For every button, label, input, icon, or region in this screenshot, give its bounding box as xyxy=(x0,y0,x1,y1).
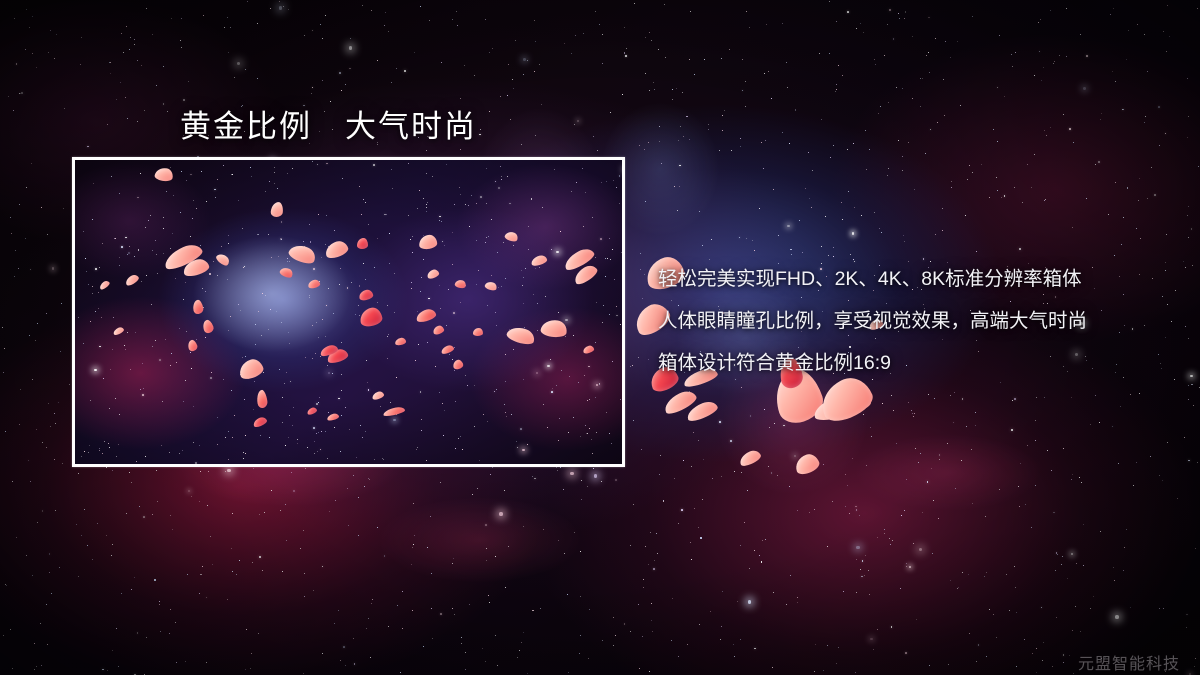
petal xyxy=(307,279,320,289)
petal xyxy=(287,242,318,267)
starfield-screen xyxy=(75,160,622,464)
petal xyxy=(454,279,467,289)
petal xyxy=(394,337,406,346)
petal xyxy=(504,230,519,243)
petal xyxy=(161,241,204,273)
petal xyxy=(793,451,822,476)
petal xyxy=(738,448,763,468)
petal xyxy=(540,318,568,338)
body-copy: 轻松完美实现FHD、2K、4K、8K标准分辨率箱体 人体眼睛瞳孔比例，享受视觉效… xyxy=(658,258,1158,384)
petal xyxy=(256,389,268,408)
petal xyxy=(426,268,440,280)
petal xyxy=(182,257,211,278)
petal xyxy=(112,326,125,336)
petal xyxy=(484,280,498,291)
petal xyxy=(154,167,174,183)
petal xyxy=(811,388,873,423)
petal xyxy=(415,307,437,323)
led-display-panel[interactable] xyxy=(72,157,625,467)
petal xyxy=(98,279,110,290)
petal xyxy=(237,357,265,382)
watermark: 元盟智能科技 xyxy=(1078,650,1180,674)
slide-canvas: 黄金比例 大气时尚 轻松完美实现FHD、2K、4K、8K标准分辨率箱体 人体眼睛… xyxy=(0,0,1200,675)
petal xyxy=(124,273,140,287)
petal xyxy=(201,319,215,335)
petal xyxy=(685,399,720,424)
petal xyxy=(359,306,384,328)
petal xyxy=(319,343,339,357)
petal xyxy=(452,359,464,370)
petal xyxy=(418,234,437,250)
body-line-2: 人体眼睛瞳孔比例，享受视觉效果，高端大气时尚 xyxy=(658,300,1158,342)
petal xyxy=(326,347,349,364)
petal xyxy=(582,345,595,355)
petal xyxy=(505,324,536,347)
petal xyxy=(357,238,368,249)
petal xyxy=(530,254,548,267)
body-line-3: 箱体设计符合黄金比例16:9 xyxy=(658,342,1158,384)
page-title: 黄金比例 大气时尚 xyxy=(180,101,477,146)
body-line-1: 轻松完美实现FHD、2K、4K、8K标准分辨率箱体 xyxy=(658,258,1158,300)
petal xyxy=(432,324,445,335)
petal xyxy=(215,252,232,268)
petal xyxy=(473,328,483,336)
petal xyxy=(571,262,599,286)
petal xyxy=(371,390,385,400)
petal xyxy=(323,239,350,260)
petal xyxy=(326,413,339,422)
petal xyxy=(192,299,204,315)
display-screen-content xyxy=(75,160,622,464)
petal xyxy=(440,344,455,355)
petal xyxy=(279,266,295,280)
petal xyxy=(358,289,374,302)
petal xyxy=(187,339,199,352)
petal xyxy=(661,387,699,416)
petal xyxy=(252,416,268,429)
petal xyxy=(383,406,406,417)
petal xyxy=(306,406,318,415)
petal xyxy=(270,202,283,218)
petal xyxy=(562,245,597,272)
